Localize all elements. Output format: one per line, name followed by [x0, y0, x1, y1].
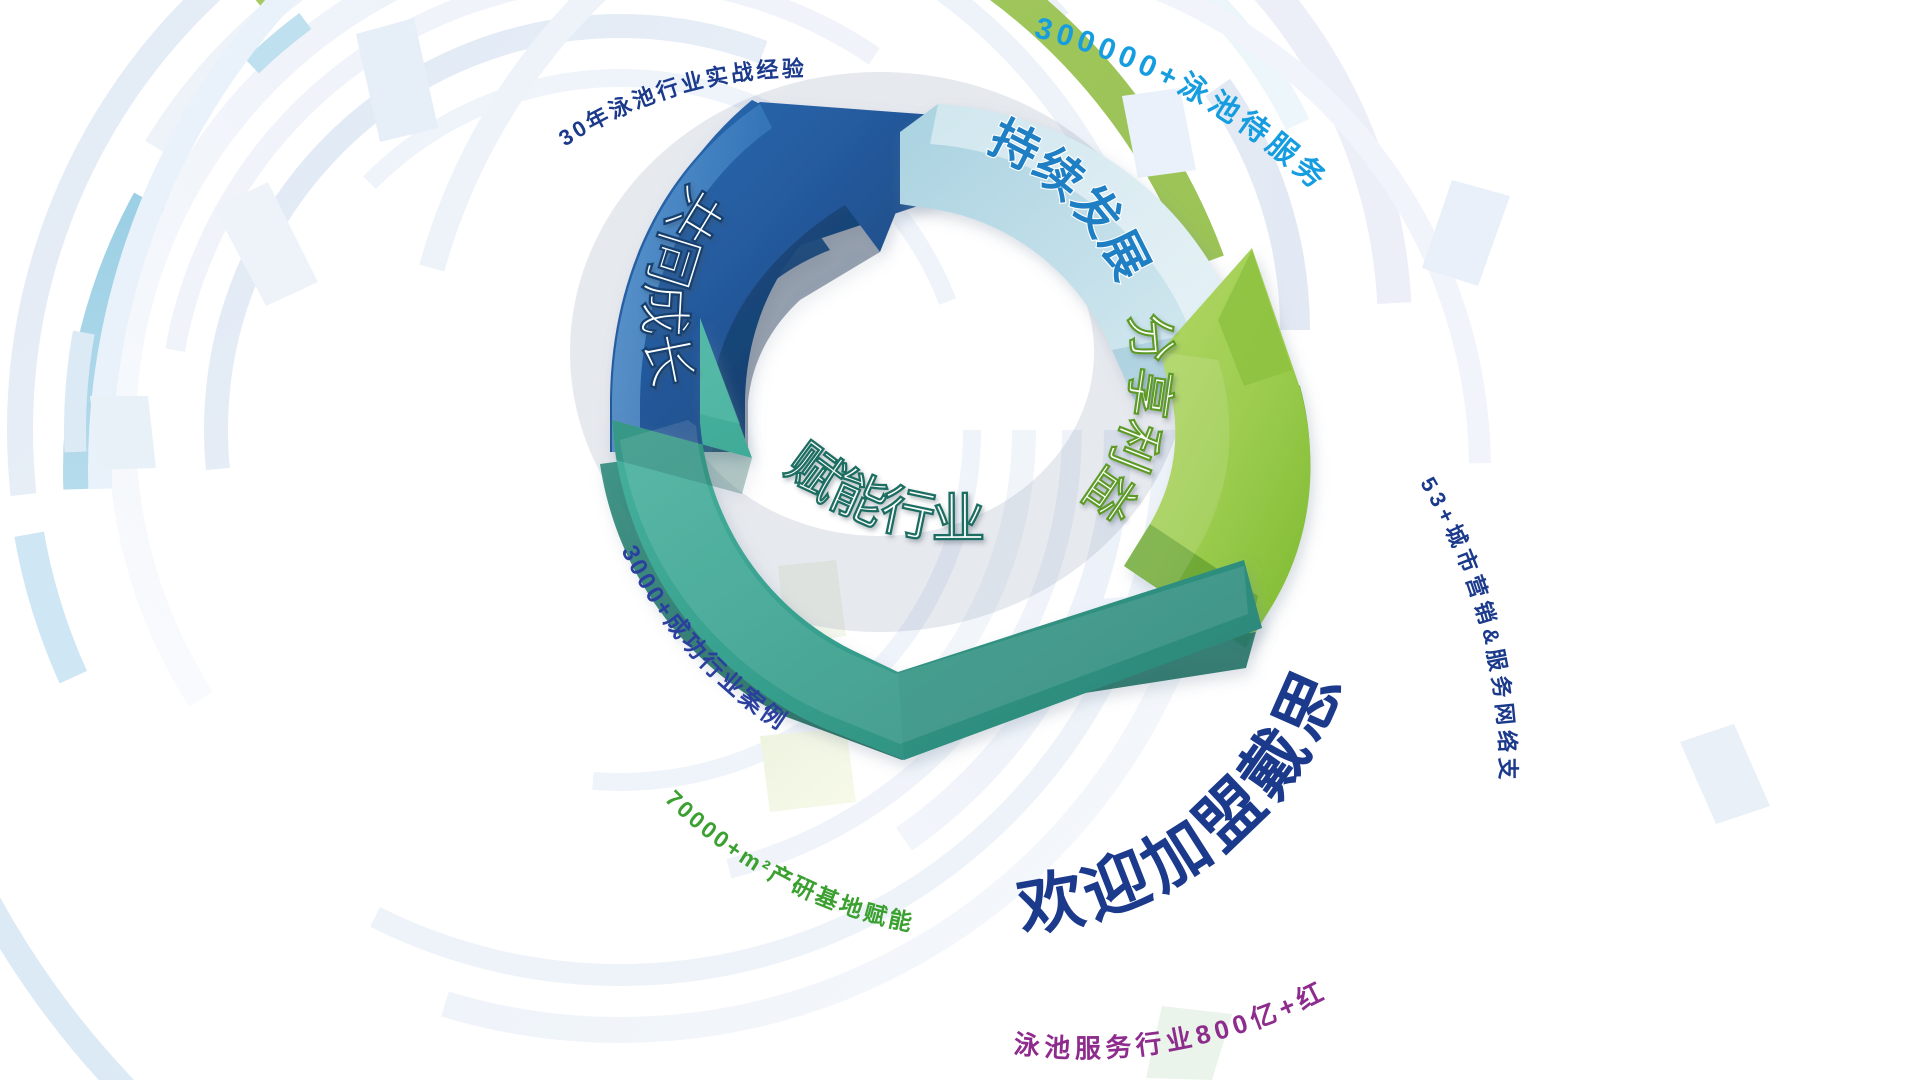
- stat-label-cases: 3000+成功行业案例: [616, 541, 793, 736]
- stat-labels: 30年泳池行业实战经验 300000+泳池待服务 53+城市营销&服务网络支持 …: [0, 0, 1920, 1080]
- svg-text:70000+m²产研基地赋能: 70000+m²产研基地赋能: [660, 785, 917, 936]
- svg-text:300000+泳池待服务: 300000+泳池待服务: [1031, 12, 1334, 199]
- stat-label-rd-base: 70000+m²产研基地赋能: [660, 785, 917, 936]
- stat-label-experience: 30年泳池行业实战经验: [554, 56, 807, 151]
- poster-canvas: 共同成长 持续发展 分享利益 赋能行业: [0, 0, 1920, 1080]
- svg-text:3000+成功行业案例: 3000+成功行业案例: [616, 541, 793, 736]
- stat-label-pools-served: 300000+泳池待服务: [1031, 12, 1334, 199]
- svg-text:30年泳池行业实战经验: 30年泳池行业实战经验: [554, 56, 807, 151]
